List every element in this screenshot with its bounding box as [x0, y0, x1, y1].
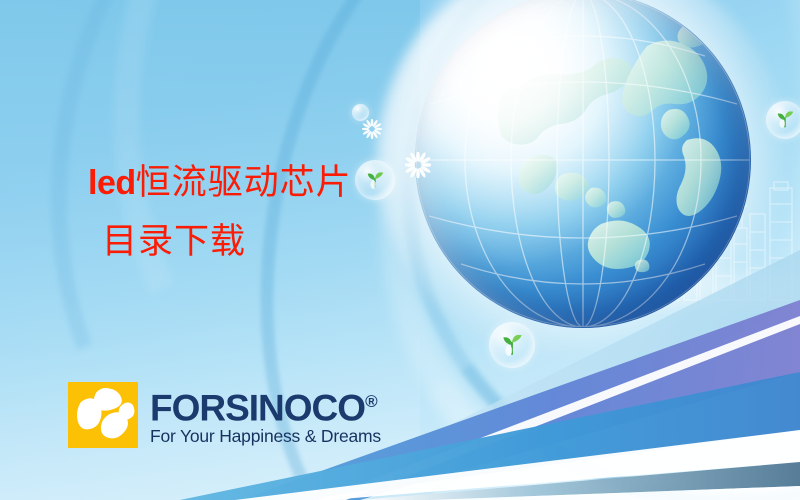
four-petal-flower-icon	[68, 382, 138, 448]
logo-name-text: FORSINOCO	[150, 387, 365, 428]
headline-line-1: led恒流驱动芯片	[88, 166, 508, 201]
flower-petals	[68, 382, 138, 448]
logo-company-name: FORSINOCO®	[150, 383, 381, 427]
promo-banner: led恒流驱动芯片 目录下载 FORSINOCO® For Your Happi…	[0, 0, 800, 500]
registered-trademark-icon: ®	[365, 392, 378, 411]
headline-line-2: 目录下载	[102, 225, 508, 260]
logo-tagline: For Your Happiness & Dreams	[150, 426, 381, 446]
headline-latin-led: led	[88, 164, 136, 202]
logo-text-block: FORSINOCO® For Your Happiness & Dreams	[150, 382, 381, 446]
headline-cjk-1: 恒流驱动芯片	[136, 163, 352, 203]
brand-logo[interactable]: FORSINOCO® For Your Happiness & Dreams	[68, 382, 381, 448]
headline: led恒流驱动芯片 目录下载	[88, 166, 508, 260]
